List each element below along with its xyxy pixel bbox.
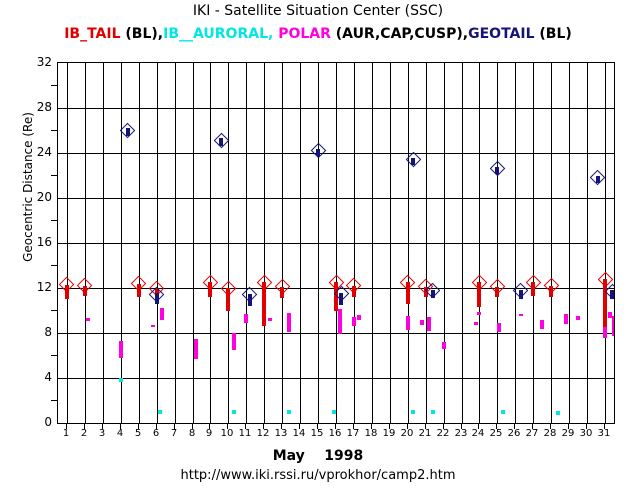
data-dot [501, 410, 505, 414]
data-bar [194, 339, 198, 359]
source-url-label: http://www.iki.rssi.ru/vprokhor/camp2.ht… [0, 468, 636, 483]
plot-area [57, 62, 615, 424]
data-bar [603, 327, 607, 337]
apogee-diamond-marker [346, 278, 362, 294]
legend-part-3: POLAR [278, 26, 336, 42]
data-bar [406, 316, 410, 330]
data-dot [232, 410, 236, 414]
data-bar [160, 308, 164, 319]
data-dot [431, 410, 435, 414]
apogee-diamond-marker [213, 133, 229, 149]
page-title: IKI - Satellite Situation Center (SSC) [0, 3, 636, 19]
chart-subtitle-legend: IB_TAIL (BL),IB__AURORAL, POLAR (AUR,CAP… [0, 26, 636, 42]
data-bar [244, 314, 248, 323]
x-tick-label: 31 [592, 428, 616, 439]
apogee-diamond-marker [242, 287, 258, 303]
data-dot [556, 411, 560, 415]
gridline-horizontal [58, 198, 614, 199]
apogee-diamond-marker [59, 277, 75, 293]
legend-part-5: GEOTAIL [468, 26, 539, 42]
data-bar [352, 317, 356, 326]
apogee-diamond-marker [120, 123, 136, 139]
apogee-diamond-marker [590, 170, 606, 186]
apogee-diamond-marker [543, 278, 559, 294]
data-bar [442, 342, 446, 349]
apogee-diamond-marker [310, 143, 326, 159]
data-bar [151, 325, 155, 327]
data-bar [287, 313, 291, 332]
data-dot [119, 378, 123, 382]
legend-part-4: (AUR,CAP,CUSP), [336, 26, 468, 42]
gridline-horizontal [58, 108, 614, 109]
apogee-diamond-marker [274, 279, 290, 295]
x-axis-label: May 1998 [0, 448, 636, 464]
data-bar [474, 322, 478, 325]
apogee-diamond-marker [221, 280, 237, 296]
gridline-horizontal [58, 153, 614, 154]
legend-part-1: (BL), [125, 26, 163, 42]
chart-page: IKI - Satellite Situation Center (SSC) I… [0, 0, 636, 500]
data-bar [338, 309, 342, 334]
data-bar [477, 312, 481, 315]
data-bar [357, 315, 361, 320]
legend-part-6: (BL) [539, 26, 571, 42]
data-dot [287, 410, 291, 414]
legend-part-2: IB__AURORAL, [163, 26, 278, 42]
data-bar [86, 318, 90, 320]
gridline-horizontal [58, 333, 614, 334]
data-bar [519, 314, 523, 316]
apogee-diamond-marker [77, 278, 93, 294]
data-dot [332, 410, 336, 414]
data-bar [420, 320, 424, 326]
data-dot [158, 410, 162, 414]
data-bar [119, 341, 123, 358]
apogee-diamond-marker [490, 279, 506, 295]
gridline-horizontal [58, 378, 614, 379]
data-bar [540, 320, 544, 329]
data-bar [608, 312, 612, 319]
x-axis-tick-labels: 1234567891011121314151617181920212223242… [0, 428, 636, 442]
legend-part-0: IB_TAIL [64, 26, 125, 42]
data-bar [497, 323, 501, 332]
gridline-horizontal [58, 243, 614, 244]
data-bar [232, 333, 236, 350]
data-bar [427, 317, 431, 331]
apogee-diamond-marker [490, 161, 506, 177]
data-dot [411, 410, 415, 414]
data-bar [564, 314, 568, 324]
data-bar [576, 316, 580, 319]
data-bar [268, 318, 272, 320]
data-bar [612, 316, 614, 336]
